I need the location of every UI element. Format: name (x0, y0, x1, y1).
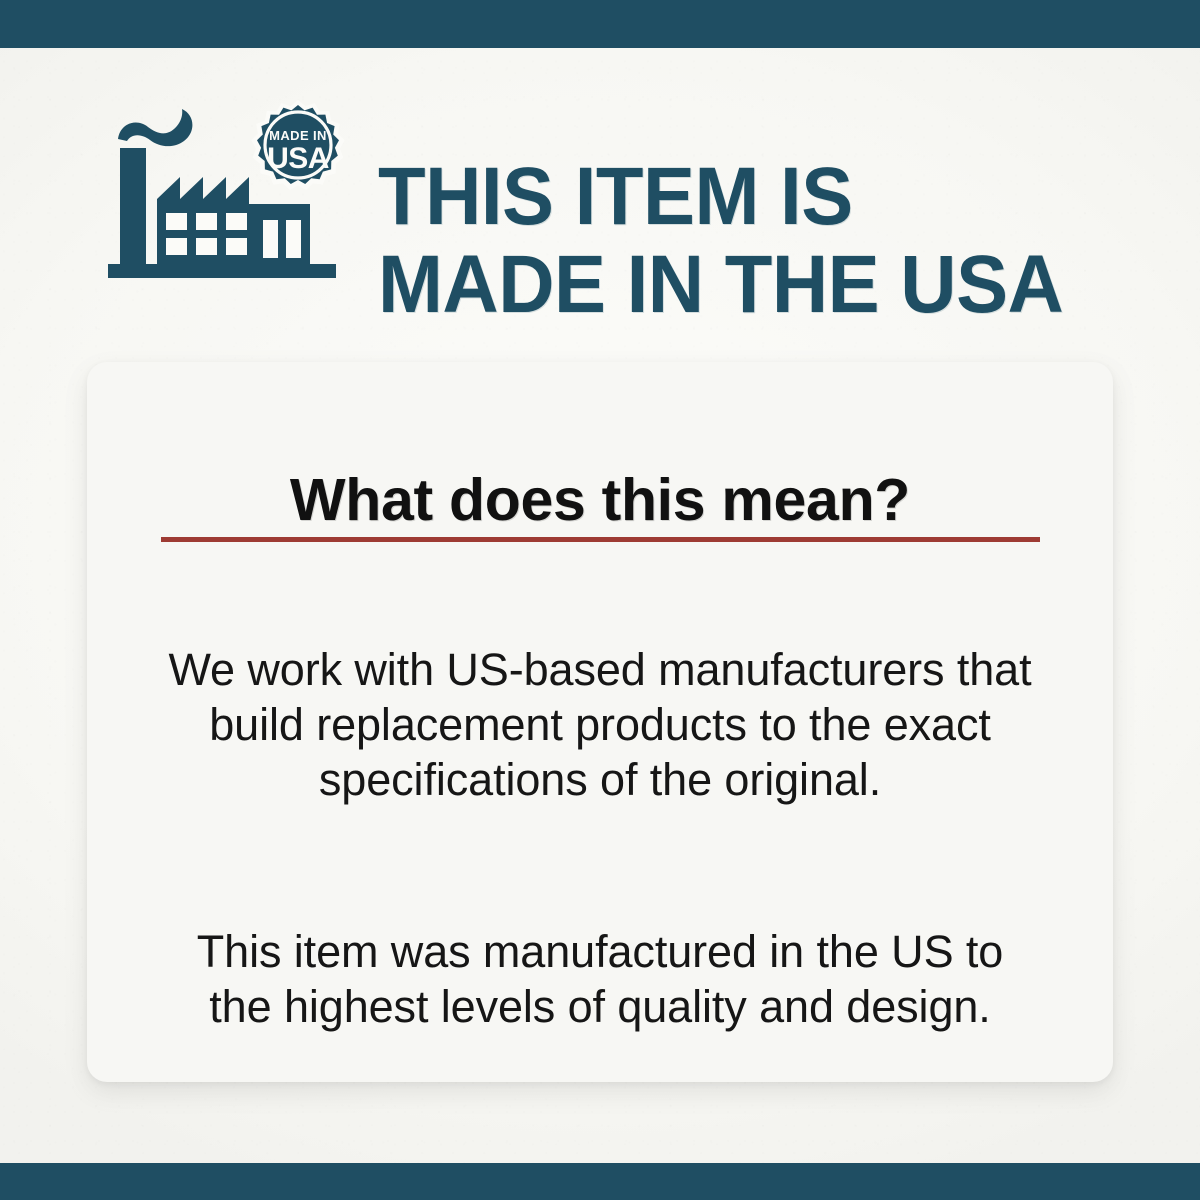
bottom-accent-bar (0, 1163, 1200, 1200)
header-section: MADE IN USA THIS ITEM IS MADE IN THE USA (0, 88, 1200, 298)
red-divider-rule (161, 537, 1040, 542)
top-accent-bar (0, 0, 1200, 48)
badge-line2-text: USA (267, 142, 329, 175)
headline-line-2: MADE IN THE USA (378, 241, 1138, 329)
explanation-card: What does this mean? We work with US-bas… (87, 362, 1113, 1082)
card-heading: What does this mean? (87, 469, 1113, 531)
factory-with-made-in-usa-badge-icon: MADE IN USA (100, 96, 350, 286)
badge-line1-text: MADE IN (269, 128, 327, 143)
made-in-usa-banner: MADE IN USA THIS ITEM IS MADE IN THE USA… (0, 0, 1200, 1200)
card-paragraph-2: This item was manufactured in the US to … (165, 924, 1035, 1034)
headline-line-1: THIS ITEM IS (378, 153, 1138, 241)
card-paragraph-1: We work with US-based manufacturers that… (165, 642, 1035, 807)
page-title: THIS ITEM IS MADE IN THE USA (378, 153, 1138, 329)
